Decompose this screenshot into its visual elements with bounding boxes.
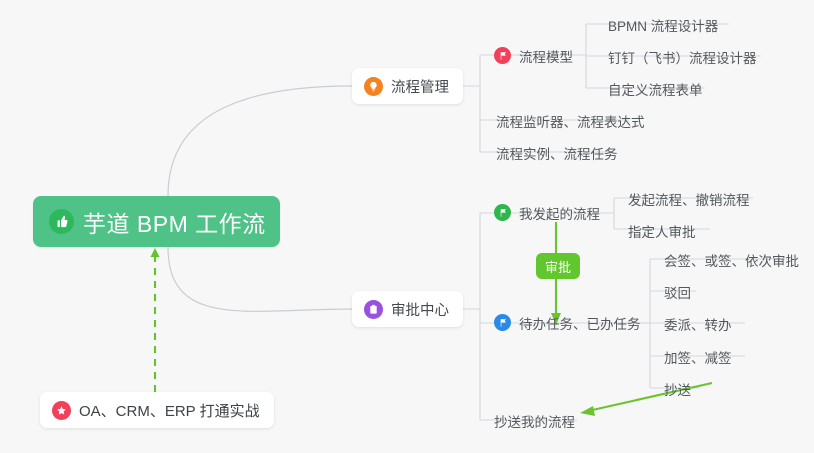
flag-icon [494,204,511,221]
node-reject[interactable]: 驳回 [660,278,697,305]
lightbulb-icon [364,77,383,96]
link-root-to-approval-center [168,247,352,311]
star-icon [52,401,71,420]
node-label: BPMN 流程设计器 [608,15,718,35]
approval-tag-label: 审批 [545,257,571,276]
root-node[interactable]: 芋道 BPM 工作流 [33,196,280,247]
approval-tag[interactable]: 审批 [536,253,580,279]
branch-label: 流程管理 [391,76,449,97]
node-label: 抄送我的流程 [494,411,575,431]
node-countersign[interactable]: 会签、或签、依次审批 [660,246,805,273]
node-label: 抄送 [664,379,691,399]
node-cc[interactable]: 抄送 [660,375,697,402]
node-listener-expression[interactable]: 流程监听器、流程表达式 [492,107,651,134]
node-todo-done-tasks[interactable]: 待办任务、已办任务 [492,309,647,336]
node-process-model[interactable]: 流程模型 [492,42,579,69]
node-label: OA、CRM、ERP 打通实战 [79,400,260,421]
node-label: 流程实例、流程任务 [496,143,618,163]
node-label: 加签、减签 [664,347,732,367]
node-integration-practice[interactable]: OA、CRM、ERP 打通实战 [40,392,274,428]
node-label: 自定义流程表单 [608,79,703,99]
arrow-integration-to-root [151,248,160,392]
branch-process-management[interactable]: 流程管理 [352,68,463,104]
node-start-cancel-process[interactable]: 发起流程、撤销流程 [624,185,756,212]
thumbs-up-icon [49,209,74,234]
node-label: 委派、转办 [664,314,732,334]
node-assignee-approval[interactable]: 指定人审批 [624,217,702,244]
node-add-remove-sign[interactable]: 加签、减签 [660,343,738,370]
clipboard-icon [364,300,383,319]
node-dingtalk-feishu-designer[interactable]: 钉钉（飞书）流程设计器 [604,43,763,70]
node-label: 指定人审批 [628,221,696,241]
node-label: 我发起的流程 [519,203,600,223]
branch-label: 审批中心 [391,299,449,320]
root-label: 芋道 BPM 工作流 [83,205,266,239]
flag-icon [494,314,511,331]
node-delegate-transfer[interactable]: 委派、转办 [660,310,738,337]
node-bpmn-designer[interactable]: BPMN 流程设计器 [604,11,724,38]
link-root-to-process-management [168,86,352,196]
node-cc-to-me[interactable]: 抄送我的流程 [490,407,581,434]
node-label: 发起流程、撤销流程 [628,189,750,209]
flag-icon [494,47,511,64]
node-my-initiated[interactable]: 我发起的流程 [492,199,606,226]
node-label: 驳回 [664,282,691,302]
mindmap-canvas: 芋道 BPM 工作流 流程管理 流程模型 BPMN 流程设计器 钉钉（飞书）流程… [0,0,814,453]
node-label: 待办任务、已办任务 [519,313,641,333]
node-custom-process-form[interactable]: 自定义流程表单 [604,75,709,102]
node-label: 会签、或签、依次审批 [664,250,799,270]
branch-approval-center[interactable]: 审批中心 [352,291,463,327]
node-instance-task[interactable]: 流程实例、流程任务 [492,139,624,166]
node-label: 流程模型 [519,46,573,66]
node-label: 流程监听器、流程表达式 [496,111,645,131]
node-label: 钉钉（飞书）流程设计器 [608,47,757,67]
